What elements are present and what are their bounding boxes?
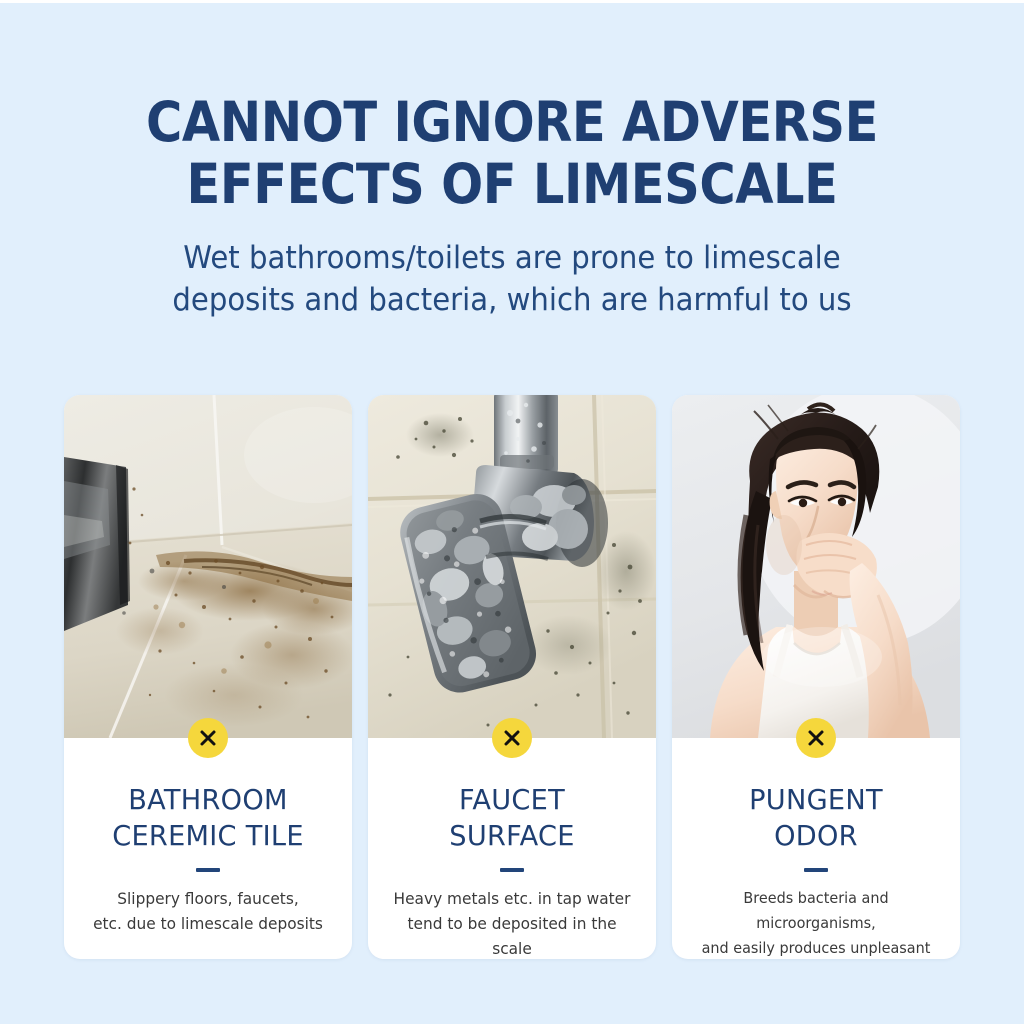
- title-divider: [196, 868, 220, 872]
- card-bathroom-ceremic-tile[interactable]: BATHROOM CEREMIC TILE Slippery floors, f…: [64, 395, 352, 959]
- card-title-line-2: SURFACE: [386, 818, 638, 854]
- card-desc-line-2: tend to be deposited in the scale: [387, 911, 637, 959]
- x-mark-badge: [188, 718, 228, 758]
- title-divider: [500, 868, 524, 872]
- card-row: BATHROOM CEREMIC TILE Slippery floors, f…: [64, 395, 960, 959]
- card-body: BATHROOM CEREMIC TILE Slippery floors, f…: [64, 782, 352, 936]
- photo-woman-pinching-nose: [672, 395, 960, 738]
- card-desc-line-2: etc. due to limescale deposits: [83, 911, 333, 936]
- card-pungent-odor[interactable]: PUNGENT ODOR Breeds bacteria and microor…: [672, 395, 960, 959]
- x-mark-badge: [492, 718, 532, 758]
- x-mark-icon: [806, 728, 826, 748]
- card-title-line-2: ODOR: [690, 818, 942, 854]
- card-desc-line-1: Breeds bacteria and microorganisms,: [691, 886, 941, 936]
- x-mark-icon: [502, 728, 522, 748]
- title-divider: [804, 868, 828, 872]
- card-title-line-2: CEREMIC TILE: [82, 818, 334, 854]
- page-title-line-1: CANNOT IGNORE ADVERSE: [51, 91, 973, 153]
- page-title-line-2: EFFECTS OF LIMESCALE: [51, 153, 973, 215]
- x-mark-badge: [796, 718, 836, 758]
- photo-limescale-faucet: [368, 395, 656, 738]
- card-title-line-1: FAUCET: [386, 782, 638, 818]
- photo-dirty-bathroom-tile: [64, 395, 352, 738]
- card-desc-line-1: Slippery floors, faucets,: [83, 886, 333, 911]
- card-title-line-1: PUNGENT: [690, 782, 942, 818]
- card-title-line-1: BATHROOM: [82, 782, 334, 818]
- x-mark-icon: [198, 728, 218, 748]
- card-body: FAUCET SURFACE Heavy metals etc. in tap …: [368, 782, 656, 959]
- page-subtitle-line-2: deposits and bacteria, which are harmful…: [31, 279, 994, 321]
- header-block: CANNOT IGNORE ADVERSE EFFECTS OF LIMESCA…: [0, 91, 1024, 321]
- page-subtitle-line-1: Wet bathrooms/toilets are prone to limes…: [31, 237, 994, 279]
- infographic-page: CANNOT IGNORE ADVERSE EFFECTS OF LIMESCA…: [0, 0, 1024, 1024]
- card-desc-line-1: Heavy metals etc. in tap water: [387, 886, 637, 911]
- card-desc-line-2: and easily produces unpleasant: [691, 936, 941, 959]
- card-faucet-surface[interactable]: FAUCET SURFACE Heavy metals etc. in tap …: [368, 395, 656, 959]
- card-body: PUNGENT ODOR Breeds bacteria and microor…: [672, 782, 960, 959]
